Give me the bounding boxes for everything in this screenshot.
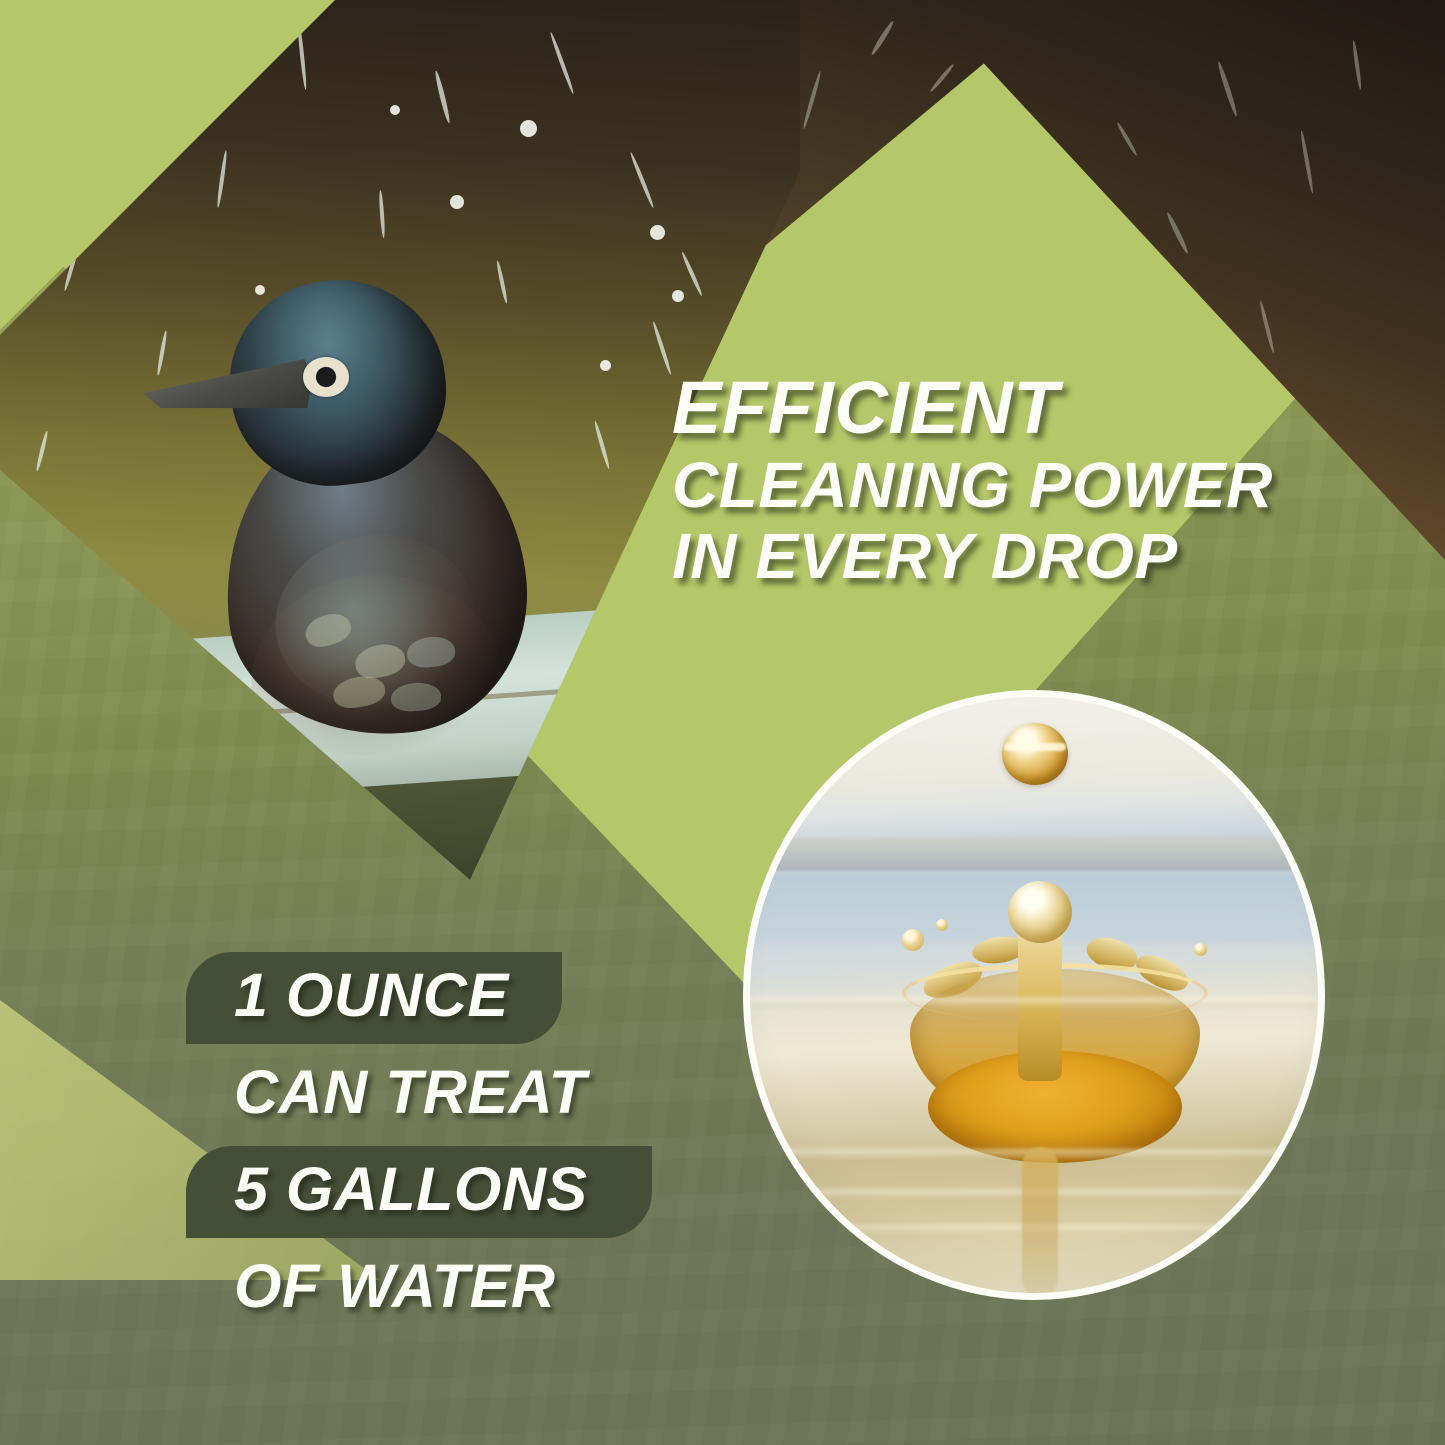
satellite-droplet [1194,943,1207,956]
falling-droplet-highlight [1004,743,1066,751]
column-reflection [1022,1147,1058,1297]
page-title: EFFICIENT CLEANING POWER IN EVERY DROP [672,372,1372,588]
satellite-droplet [902,929,924,951]
droplet-circle-wrapper [743,690,1325,1300]
headline-line-3: IN EVERY DROP [672,526,1372,587]
benefit-text-3: 5 GALLONS [234,1154,588,1224]
promo-poster: EFFICIENT CLEANING POWER IN EVERY DROP 1… [0,0,1445,1445]
benefit-text-4: OF WATER [234,1251,555,1321]
falling-droplet [1002,723,1068,785]
droplet-circle-photo [743,690,1325,1300]
surface-ripple [750,997,1318,1007]
headline-line-1: EFFICIENT [672,372,1372,443]
bird-eye [303,357,349,397]
grackle-bird [155,245,575,725]
rising-column-droplet-head [1008,881,1072,943]
satellite-droplet [936,919,948,931]
headline-line-2: CLEANING POWER [672,455,1372,516]
droplet-backdrop-band [750,837,1318,871]
benefit-text-1: 1 OUNCE [234,960,509,1030]
benefit-text-2: CAN TREAT [234,1057,586,1127]
